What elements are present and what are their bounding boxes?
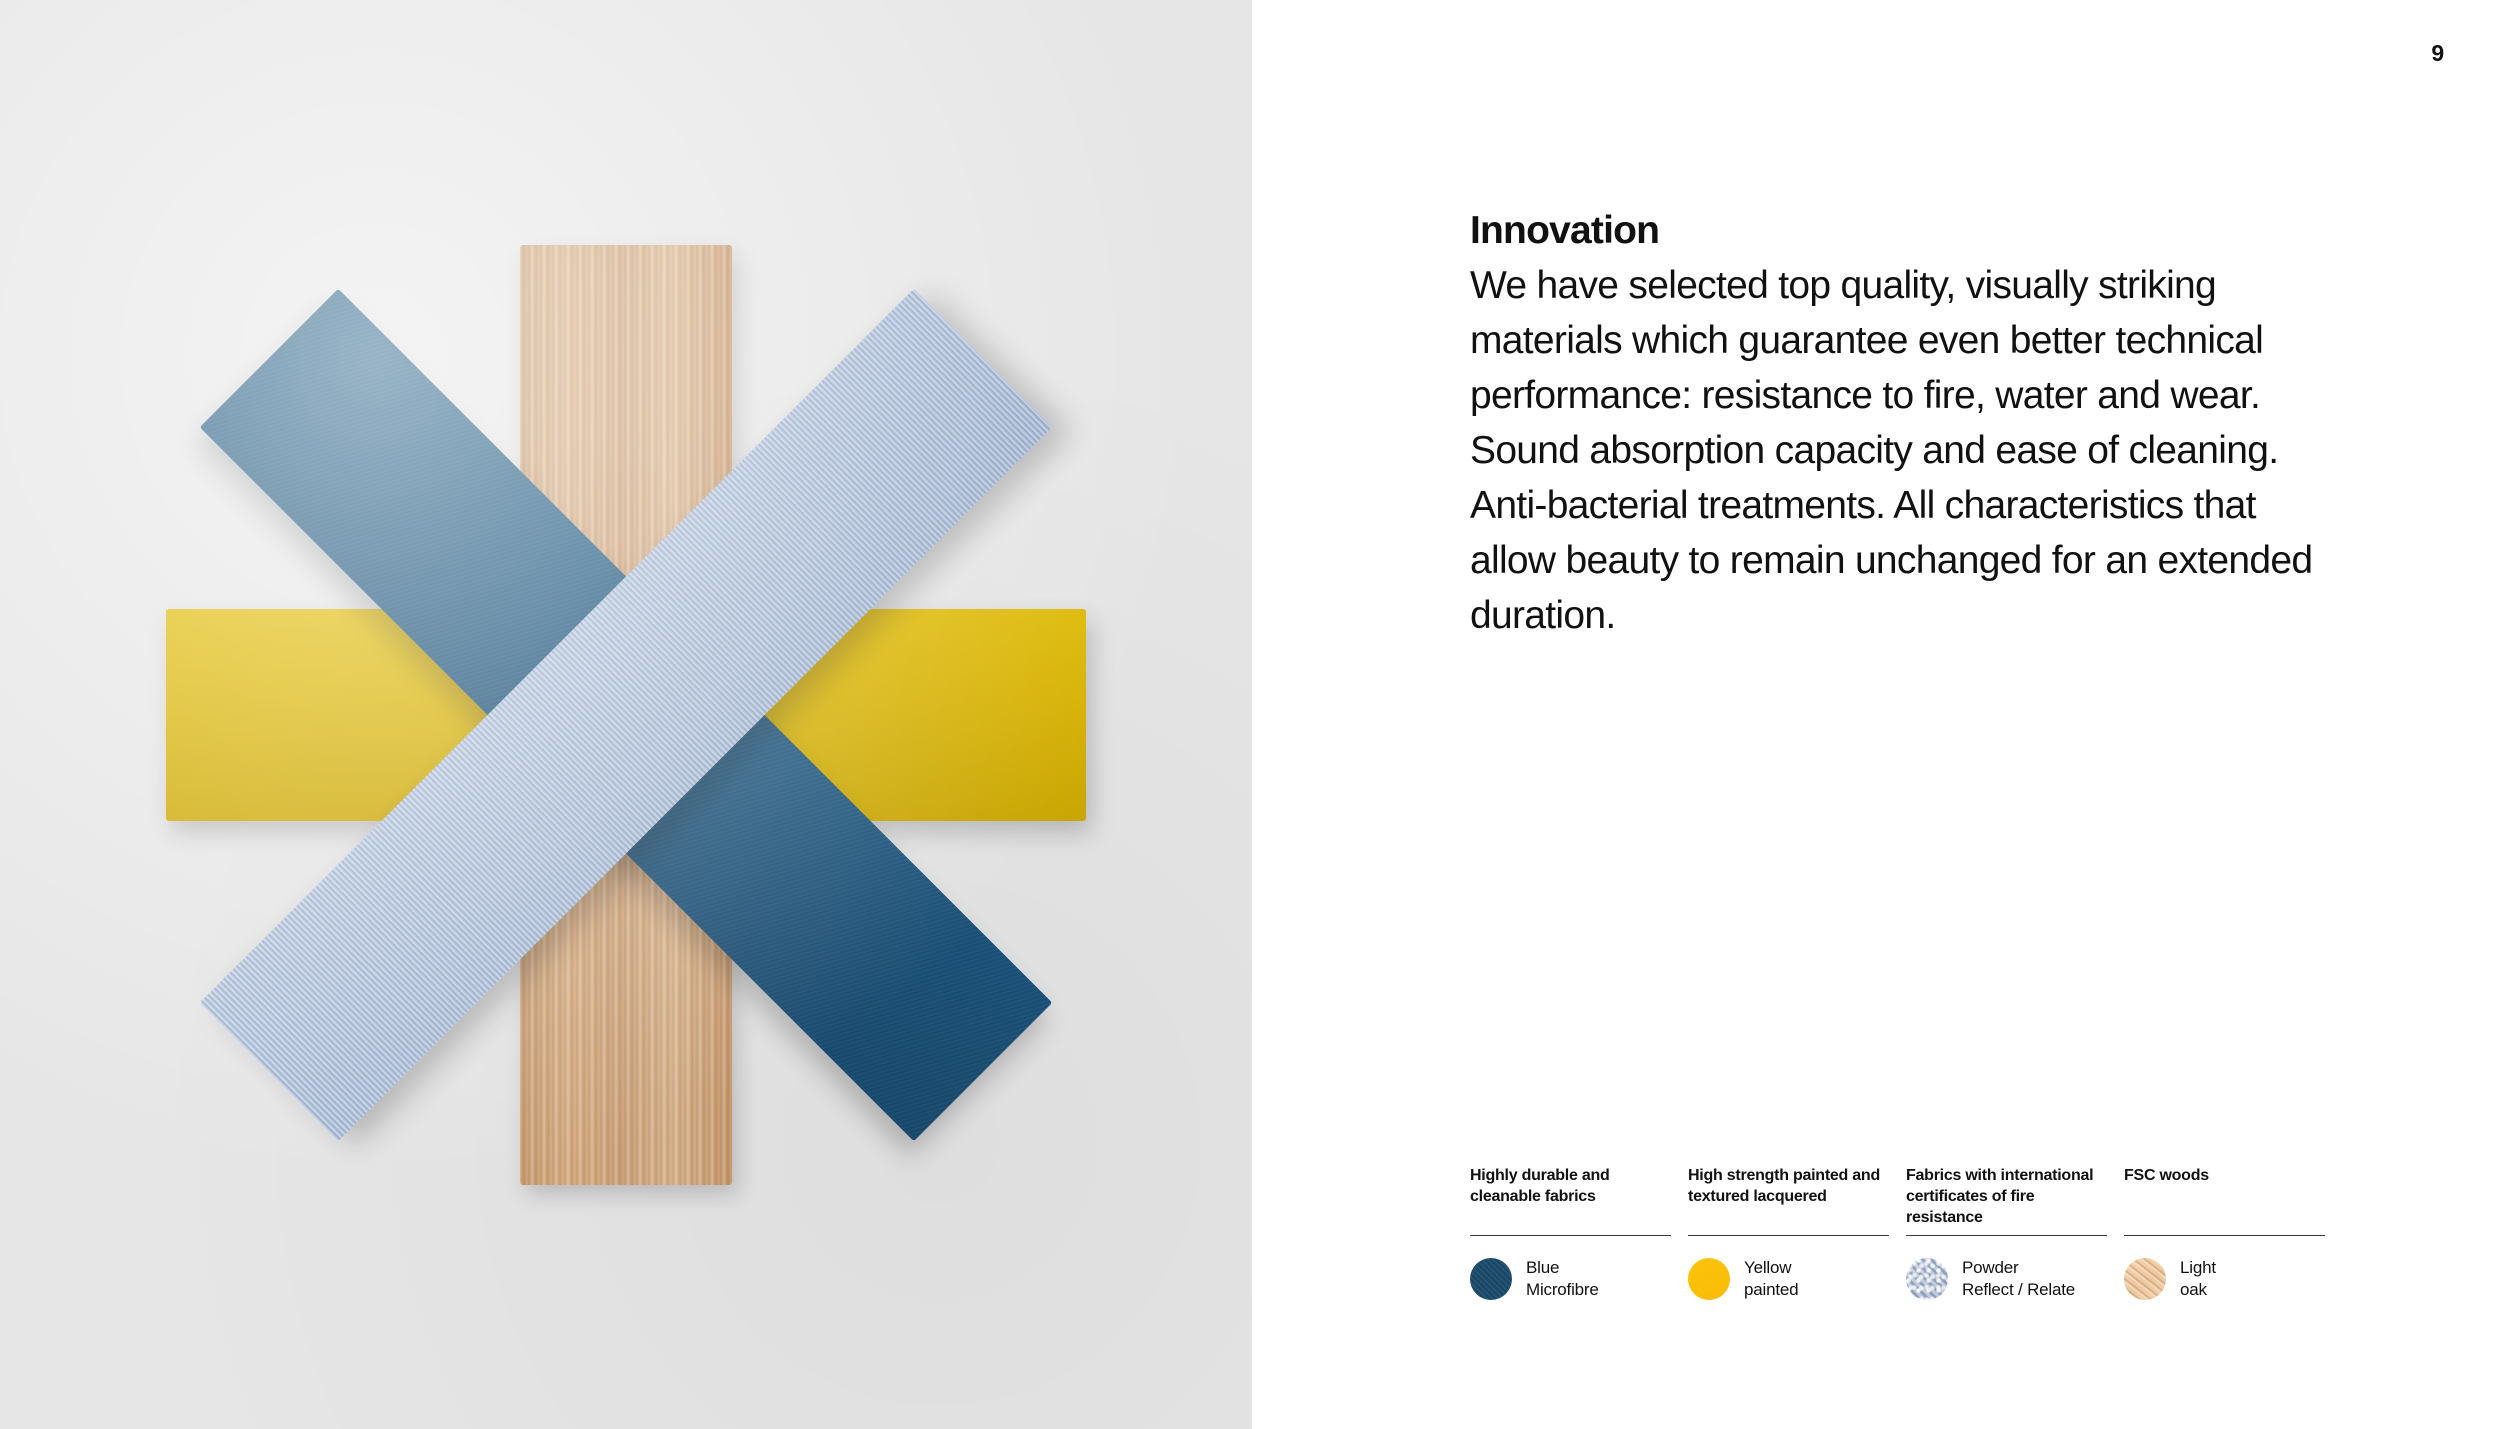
- feature-sample: Light oak: [2124, 1257, 2325, 1301]
- feature-title: FSC woods: [2124, 1165, 2325, 1231]
- sample-line-1: Blue: [1526, 1258, 1559, 1277]
- material-photo-panel: [0, 0, 1252, 1429]
- feature-column-fire-resistance: Fabrics with international certificates …: [1906, 1165, 2107, 1301]
- body-paragraph: We have selected top quality, visually s…: [1470, 258, 2330, 643]
- feature-sample: Powder Reflect / Relate: [1906, 1257, 2107, 1301]
- feature-sample-label: Light oak: [2180, 1257, 2216, 1301]
- feature-divider: [1688, 1235, 1889, 1236]
- feature-column-fsc-woods: FSC woods Light oak: [2124, 1165, 2325, 1301]
- feature-title: Highly durable and cleanable fabrics: [1470, 1165, 1671, 1231]
- sample-line-2: Microfibre: [1526, 1280, 1599, 1299]
- feature-column-durable-fabrics: Highly durable and cleanable fabrics Blu…: [1470, 1165, 1671, 1301]
- powder-reflect-relate-swatch: [1906, 1258, 1948, 1300]
- feature-sample: Yellow painted: [1688, 1257, 1889, 1301]
- feature-sample-label: Yellow painted: [1744, 1257, 1798, 1301]
- feature-title: Fabrics with international certificates …: [1906, 1165, 2107, 1231]
- light-oak-swatch: [2124, 1258, 2166, 1300]
- feature-title: High strength painted and textured lacqu…: [1688, 1165, 1889, 1231]
- catalogue-spread: 9 Innovation We have selected top qualit…: [0, 0, 2500, 1429]
- content-panel: 9 Innovation We have selected top qualit…: [1252, 0, 2500, 1429]
- blue-microfibre-swatch: [1470, 1258, 1512, 1300]
- feature-divider: [1906, 1235, 2107, 1236]
- feature-divider: [1470, 1235, 1671, 1236]
- sample-line-2: oak: [2180, 1280, 2207, 1299]
- copy-block: Innovation We have selected top quality,…: [1470, 203, 2330, 643]
- sample-line-1: Powder: [1962, 1258, 2018, 1277]
- feature-divider: [2124, 1235, 2325, 1236]
- sample-line-1: Light: [2180, 1258, 2216, 1277]
- sample-line-2: Reflect / Relate: [1962, 1280, 2075, 1299]
- yellow-painted-swatch: [1688, 1258, 1730, 1300]
- page-number: 9: [2431, 40, 2444, 67]
- swatch-stack: [176, 265, 1076, 1165]
- feature-columns: Highly durable and cleanable fabrics Blu…: [1470, 1165, 2342, 1301]
- sample-line-2: painted: [1744, 1280, 1798, 1299]
- feature-sample-label: Powder Reflect / Relate: [1962, 1257, 2075, 1301]
- page-title: Innovation: [1470, 203, 2330, 258]
- feature-column-painted-lacquered: High strength painted and textured lacqu…: [1688, 1165, 1889, 1301]
- feature-sample: Blue Microfibre: [1470, 1257, 1671, 1301]
- sample-line-1: Yellow: [1744, 1258, 1791, 1277]
- feature-sample-label: Blue Microfibre: [1526, 1257, 1599, 1301]
